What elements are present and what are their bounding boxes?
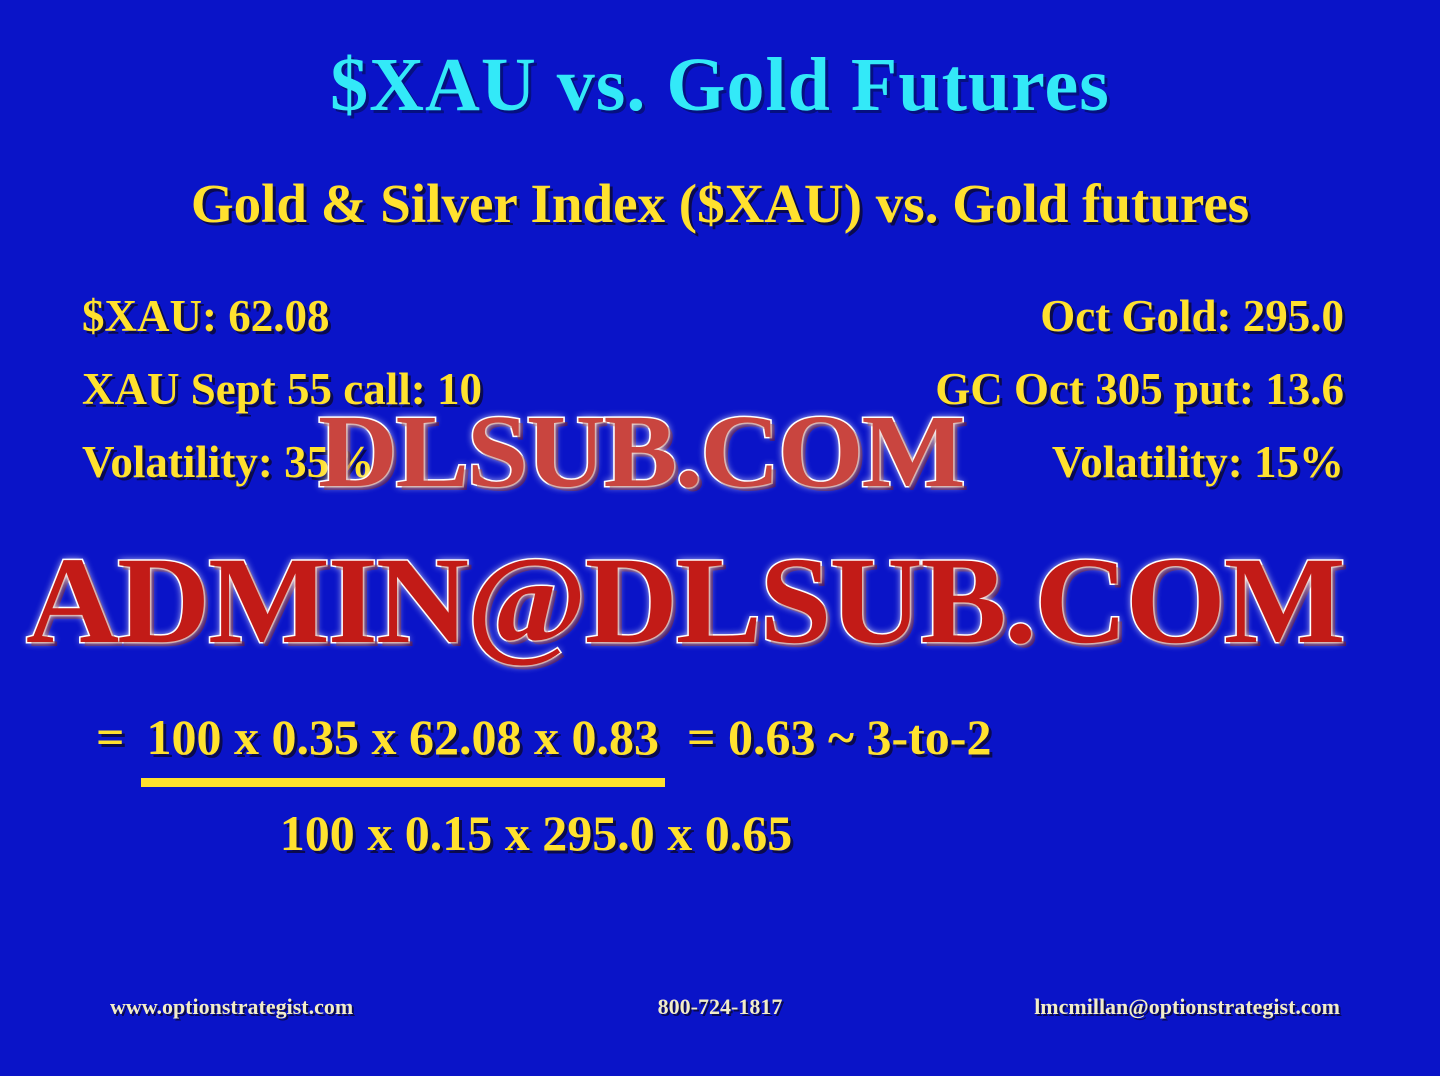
page-title: $XAU vs. Gold Futures (0, 42, 1440, 129)
quote-row-xau-price: $XAU: 62.08 (82, 280, 482, 353)
watermark-admin-email: ADMIN@DLSUB.COM (26, 530, 1343, 672)
formula-denominator: 100 x 0.15 x 295.0 x 0.65 (148, 804, 924, 862)
formula-equals-lead: = (96, 708, 125, 766)
formula-result: = 0.63 ~ 3-to-2 (687, 708, 991, 766)
footer-email: lmcmillan@optionstrategist.com (1034, 994, 1340, 1020)
page-subtitle: Gold & Silver Index ($XAU) vs. Gold futu… (0, 172, 1440, 235)
slide-canvas: $XAU vs. Gold Futures Gold & Silver Inde… (0, 0, 1440, 1076)
watermark-dlsub: DLSUB.COM (318, 392, 963, 511)
slide-footer: www.optionstrategist.com 800-724-1817 lm… (0, 994, 1440, 1024)
formula-numerator: 100 x 0.35 x 62.08 x 0.83 (141, 708, 666, 787)
formula-top-line: = 100 x 0.35 x 62.08 x 0.83 = 0.63 ~ 3-t… (96, 708, 991, 787)
quote-row-gold-volatility: Volatility: 15% (935, 426, 1344, 499)
quote-row-gold-price: Oct Gold: 295.0 (935, 280, 1344, 353)
quotes-right-column: Oct Gold: 295.0 GC Oct 305 put: 13.6 Vol… (935, 280, 1344, 499)
quote-row-gold-put: GC Oct 305 put: 13.6 (935, 353, 1344, 426)
